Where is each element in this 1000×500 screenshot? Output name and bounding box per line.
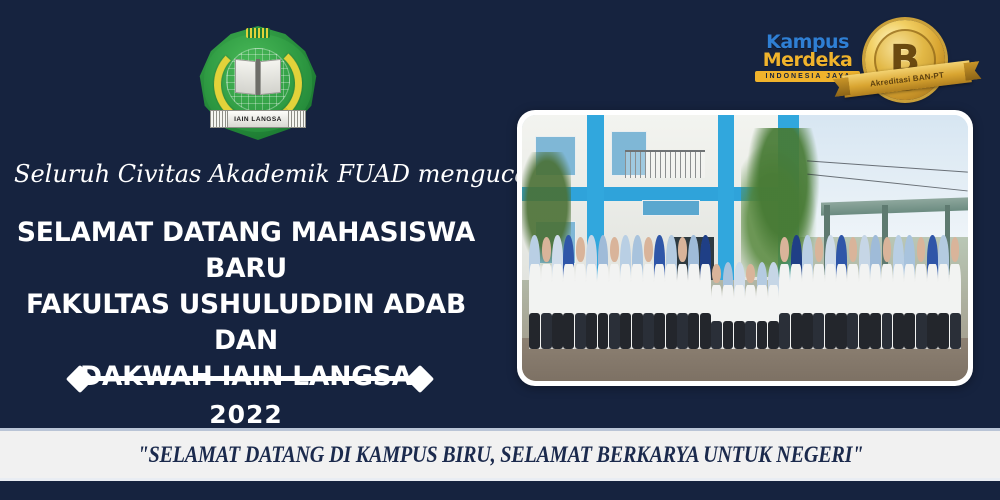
photo-person-lower [563,313,574,350]
photo-person [552,235,563,349]
photo-person-lower [654,313,665,350]
group-photo [522,115,968,381]
photo-person-lower [529,313,540,350]
photo-person-lower [813,313,824,350]
photo-person-lower [620,313,631,350]
photo-person-head [780,237,789,262]
iain-langsa-logo: IAIN LANGSA [188,22,328,144]
photo-person-lower [836,313,847,350]
photo-person-lower [882,313,893,350]
photo-person [620,235,631,349]
photo-person [836,235,847,349]
photo-person [597,235,608,349]
photo-person-lower [847,313,858,350]
photo-person [756,262,767,349]
photo-person-head [849,237,858,262]
photo-person-head [815,237,824,262]
photo-person-lower [859,313,870,350]
photo-person-lower [802,313,813,350]
photo-person [881,235,892,349]
photo-person [938,235,949,349]
photo-person-head [883,237,892,262]
logo-crest-top-ornament [246,28,270,38]
accreditation-medal: B Akreditasi BAN-PT [843,20,971,112]
photo-person [722,262,733,349]
photo-person [643,235,654,349]
photo-person-lower [541,313,552,350]
photo-person-head [576,237,585,262]
divider [70,369,430,389]
photo-person-lower [734,321,745,349]
photo-person [541,235,552,349]
logo-ribbon: IAIN LANGSA [210,110,306,128]
photo-person [915,235,926,349]
photo-person-lower [688,313,699,350]
photo-person-lower [745,321,756,349]
photo-person-lower [552,313,563,350]
photo-person-head [951,237,960,262]
welcome-banner: IAIN LANGSA Kampus Merdeka INDONESIA JAY… [0,0,1000,500]
photo-person [802,235,813,349]
open-book-icon [235,60,281,94]
photo-person [904,235,915,349]
headline-block: SELAMAT DATANG MAHASISWA BARU FAKULTAS U… [0,215,492,435]
photo-person [927,235,938,349]
photo-person-lower [904,313,915,350]
photo-person-lower [768,321,779,349]
photo-person [700,235,711,349]
photo-person [825,235,836,349]
photo-person [847,235,858,349]
logo-ribbon-label: IAIN LANGSA [234,116,282,123]
photo-person-lower [870,313,881,350]
footer-tagline: "SELAMAT DATANG DI KAMPUS BIRU, SELAMAT … [137,442,863,468]
photo-person-lower [598,313,609,350]
photo-person-lower [586,313,597,350]
photo-person [586,235,597,349]
photo-person [677,235,688,349]
photo-person [734,262,745,349]
photo-person [654,235,665,349]
photo-person [609,235,620,349]
photo-person [768,262,779,349]
photo-person [813,235,824,349]
photo-person-head [610,237,619,262]
photo-person-lower [779,313,790,350]
photo-person-lower [575,313,586,350]
photo-people-row [522,235,968,349]
accreditation-ribbon-label: Akreditasi BAN-PT [869,70,944,88]
photo-person [745,262,756,349]
intro-text: Seluruh Civitas Akademik FUAD mengucapka… [14,160,514,188]
photo-person-head [542,237,551,262]
photo-person-lower [723,321,734,349]
photo-person [949,235,960,349]
headline-line-2: FAKULTAS USHULUDDIN ADAB DAN [0,287,492,359]
photo-person-lower [632,313,643,350]
photo-person [870,235,881,349]
photo-person-lower [609,313,620,350]
photo-person-head [712,264,721,283]
photo-person [779,235,790,349]
photo-person [859,235,870,349]
photo-person-lower [666,313,677,350]
photo-person-head [678,237,687,262]
photo-person-head [644,237,653,262]
photo-person [711,262,722,349]
photo-person-lower [825,313,836,350]
photo-person-lower [893,313,904,350]
headline-line-1: SELAMAT DATANG MAHASISWA BARU [0,215,492,287]
photo-person-lower [700,313,711,350]
book-spine [256,59,260,95]
divider-bar [84,376,416,381]
photo-person-lower [927,313,938,350]
photo-person-lower [677,313,688,350]
photo-person [529,235,540,349]
photo-person-lower [791,313,802,350]
bottom-accent-line-bottom [0,478,1000,481]
photo-person [790,235,801,349]
photo-person [688,235,699,349]
photo-person-lower [643,313,654,350]
photo-person-lower [711,321,722,349]
footer-bar: "SELAMAT DATANG DI KAMPUS BIRU, SELAMAT … [0,431,1000,478]
photo-person-lower [757,321,768,349]
photo-frame [517,110,973,386]
photo-person-head [746,264,755,283]
diamond-right-icon [406,365,434,393]
photo-person [631,235,642,349]
photo-balcony-railing [625,150,705,179]
photo-person [893,235,904,349]
photo-person [563,235,574,349]
photo-person [665,235,676,349]
photo-person-lower [916,313,927,350]
photo-window-strip [642,200,700,216]
photo-person-lower [938,313,949,350]
photo-person-lower [950,313,961,350]
photo-person [575,235,586,349]
photo-person-head [917,237,926,262]
